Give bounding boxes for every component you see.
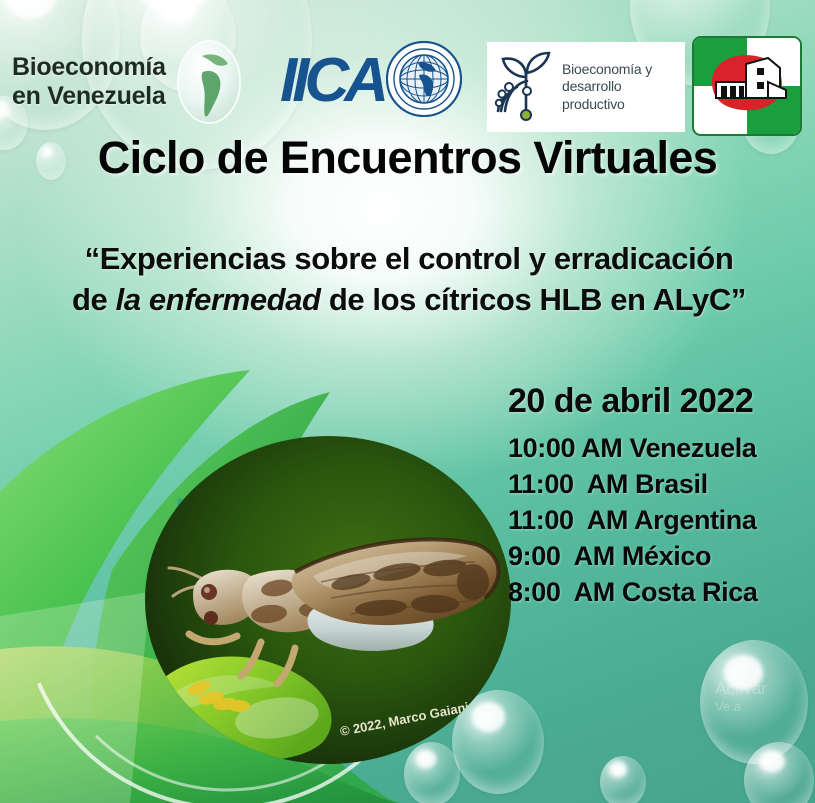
logo-iica: IICA [280,40,480,122]
event-time-1: 11:00 AM Brasil [508,467,808,503]
watermark-line1: Activar [715,678,805,699]
event-subtitle: “Experiencias sobre el control y erradic… [34,238,784,320]
water-droplet-icon [744,742,814,803]
bioeconomia-venezuela-label: Bioeconomía en Venezuela [12,53,166,112]
water-droplet-icon [700,640,808,764]
citrus-psyllid-photo: © 2022, Marco Gaiani [145,436,511,764]
logo-strip: Bioeconomía en Venezuela [0,14,815,126]
watermark-line2: Ve a [715,699,805,715]
bev-line1: Bioeconomía [12,53,166,83]
sprout-network-icon [493,47,557,128]
event-schedule: 20 de abril 2022 10:00 AM Venezuela 11:0… [508,382,808,611]
logo-facultad-crest [692,36,802,136]
subtitle-line1: “Experiencias sobre el control y erradic… [34,238,784,279]
event-time-4: 8:00 AM Costa Rica [508,575,808,611]
water-droplet-icon [600,756,646,803]
poster-canvas: Bioeconomía en Venezuela [0,0,815,803]
logo-bioeconomia-desarrollo: Bioeconomía y desarrollo productivo [487,42,685,132]
activation-watermark: Activar Ve a [715,678,805,716]
event-time-2: 11:00 AM Argentina [508,503,808,539]
bioeconomia-desarrollo-label: Bioeconomía y desarrollo productivo [562,61,679,112]
logo-bioeconomia-venezuela: Bioeconomía en Venezuela [12,36,282,128]
biodp-line2: desarrollo productivo [562,78,679,112]
bev-line2: en Venezuela [12,82,166,112]
globe-americas-icon [172,36,246,128]
biodp-line1: Bioeconomía y [562,61,679,78]
globe-seal-icon [386,41,462,122]
iica-wordmark: IICA [280,50,384,112]
subtitle-line2-post: de los cítricos HLB en ALyC” [321,282,746,317]
event-time-3: 9:00 AM México [508,539,808,575]
water-droplet-icon [404,742,460,803]
subtitle-line2-italic: la enfermedad [116,282,321,317]
subtitle-line2: de la enfermedad de los cítricos HLB en … [34,279,784,320]
subtitle-line2-pre: de [72,282,116,317]
page-title: Ciclo de Encuentros Virtuales [0,132,815,184]
event-date: 20 de abril 2022 [508,382,808,421]
event-time-0: 10:00 AM Venezuela [508,431,808,467]
